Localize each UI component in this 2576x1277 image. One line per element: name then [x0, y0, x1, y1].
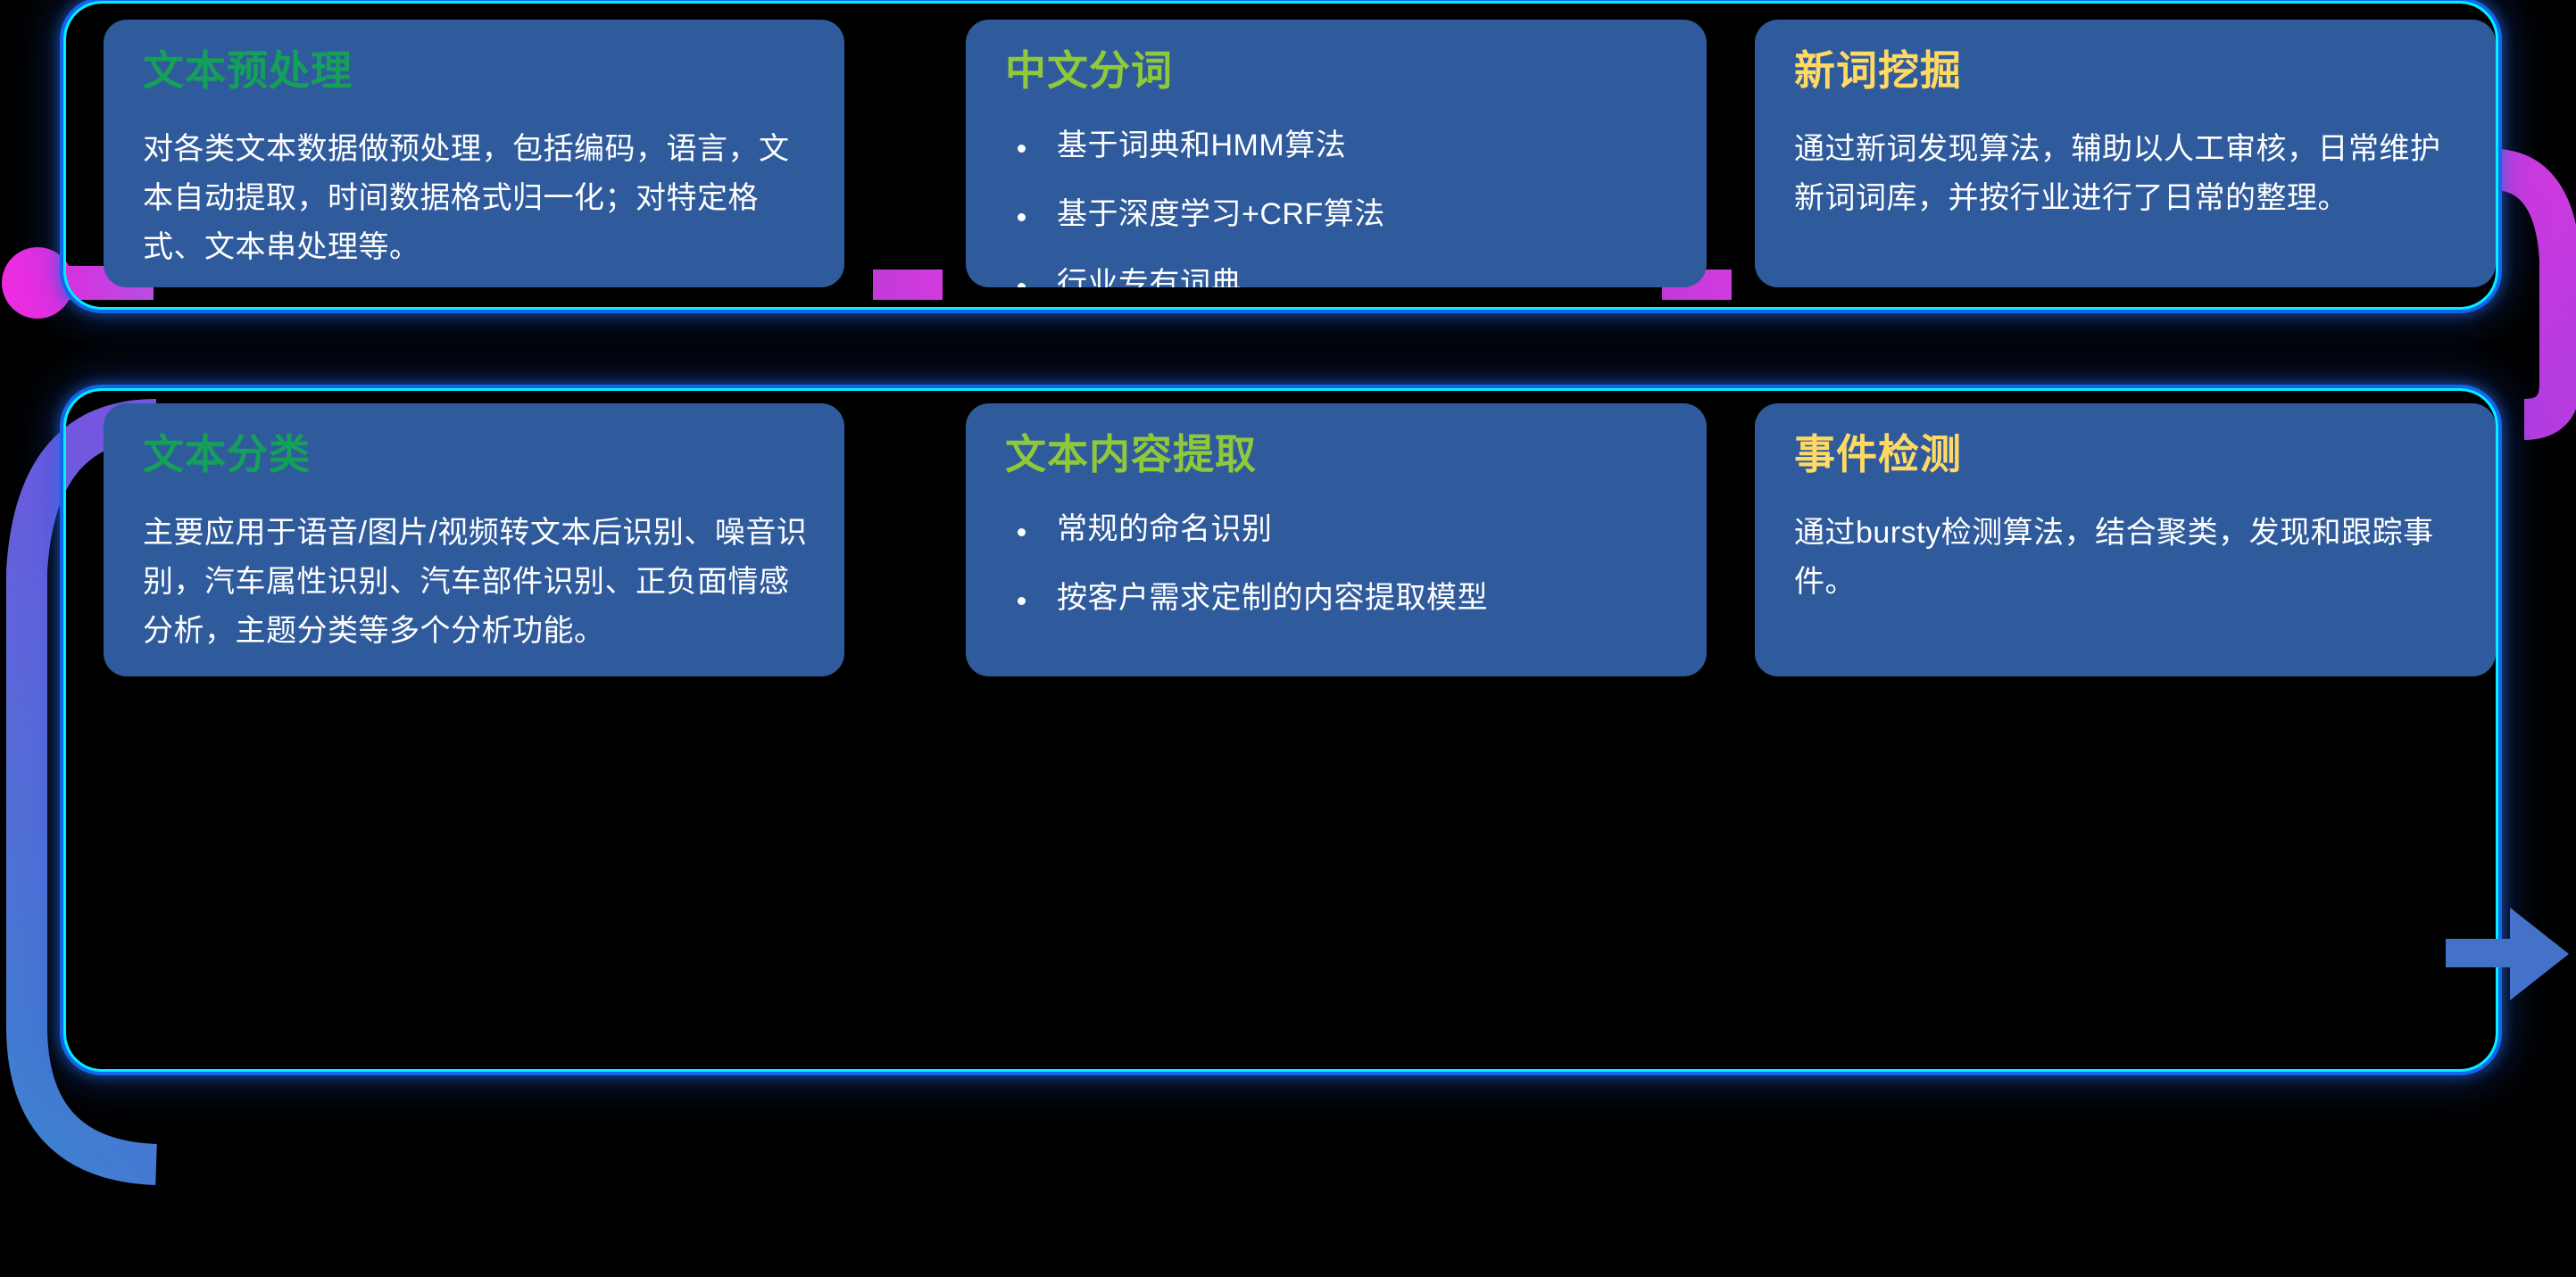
card-title-chinese-word-segmentation: 中文分词: [1005, 48, 1671, 95]
list-item: 行业专有词典: [1005, 263, 1671, 287]
list-item: 常规的命名识别: [1005, 509, 1671, 551]
card-new-word-discovery[interactable]: 新词挖掘 通过新词发现算法，辅助以人工审核，日常维护新词词库，并按行业进行了日常…: [1755, 20, 2496, 287]
card-body-new-word-discovery: 通过新词发现算法，辅助以人工审核，日常维护新词词库，并按行业进行了日常的整理。: [1794, 125, 2460, 223]
card-text-content-extraction[interactable]: 文本内容提取 常规的命名识别 按客户需求定制的内容提取模型: [966, 403, 1707, 676]
card-title-new-word-discovery: 新词挖掘: [1794, 48, 2460, 95]
diagram-canvas: 文本预处理 对各类文本数据做预处理，包括编码，语言，文本自动提取，时间数据格式归…: [0, 0, 2576, 1277]
card-title-event-detection: 事件检测: [1794, 432, 2460, 478]
card-bullet-list-text-content-extraction: 常规的命名识别 按客户需求定制的内容提取模型: [1005, 509, 1671, 620]
arrow-right-icon: [2510, 908, 2569, 1000]
card-bullet-list-chinese-word-segmentation: 基于词典和HMM算法 基于深度学习+CRF算法 行业专有词典: [1005, 125, 1671, 287]
list-item: 基于词典和HMM算法: [1005, 125, 1671, 168]
card-chinese-word-segmentation[interactable]: 中文分词 基于词典和HMM算法 基于深度学习+CRF算法 行业专有词典: [966, 20, 1707, 287]
list-item: 按客户需求定制的内容提取模型: [1005, 577, 1671, 620]
card-text-preprocessing[interactable]: 文本预处理 对各类文本数据做预处理，包括编码，语言，文本自动提取，时间数据格式归…: [104, 20, 844, 287]
card-body-text-classification: 主要应用于语音/图片/视频转文本后识别、噪音识别，汽车属性识别、汽车部件识别、正…: [143, 509, 809, 656]
card-text-classification[interactable]: 文本分类 主要应用于语音/图片/视频转文本后识别、噪音识别，汽车属性识别、汽车部…: [104, 403, 844, 676]
card-body-text-preprocessing: 对各类文本数据做预处理，包括编码，语言，文本自动提取，时间数据格式归一化；对特定…: [143, 125, 809, 272]
card-title-text-classification: 文本分类: [143, 432, 809, 478]
card-title-text-preprocessing: 文本预处理: [143, 48, 809, 95]
card-title-text-content-extraction: 文本内容提取: [1005, 432, 1671, 478]
card-body-event-detection: 通过bursty检测算法，结合聚类，发现和跟踪事件。: [1794, 509, 2460, 607]
list-item: 基于深度学习+CRF算法: [1005, 194, 1671, 236]
card-event-detection[interactable]: 事件检测 通过bursty检测算法，结合聚类，发现和跟踪事件。: [1755, 403, 2496, 676]
flow-end-bar-icon: [2446, 939, 2515, 967]
connector-bar-icon-1: [873, 269, 943, 300]
flow-curve-right: [2499, 170, 2560, 419]
